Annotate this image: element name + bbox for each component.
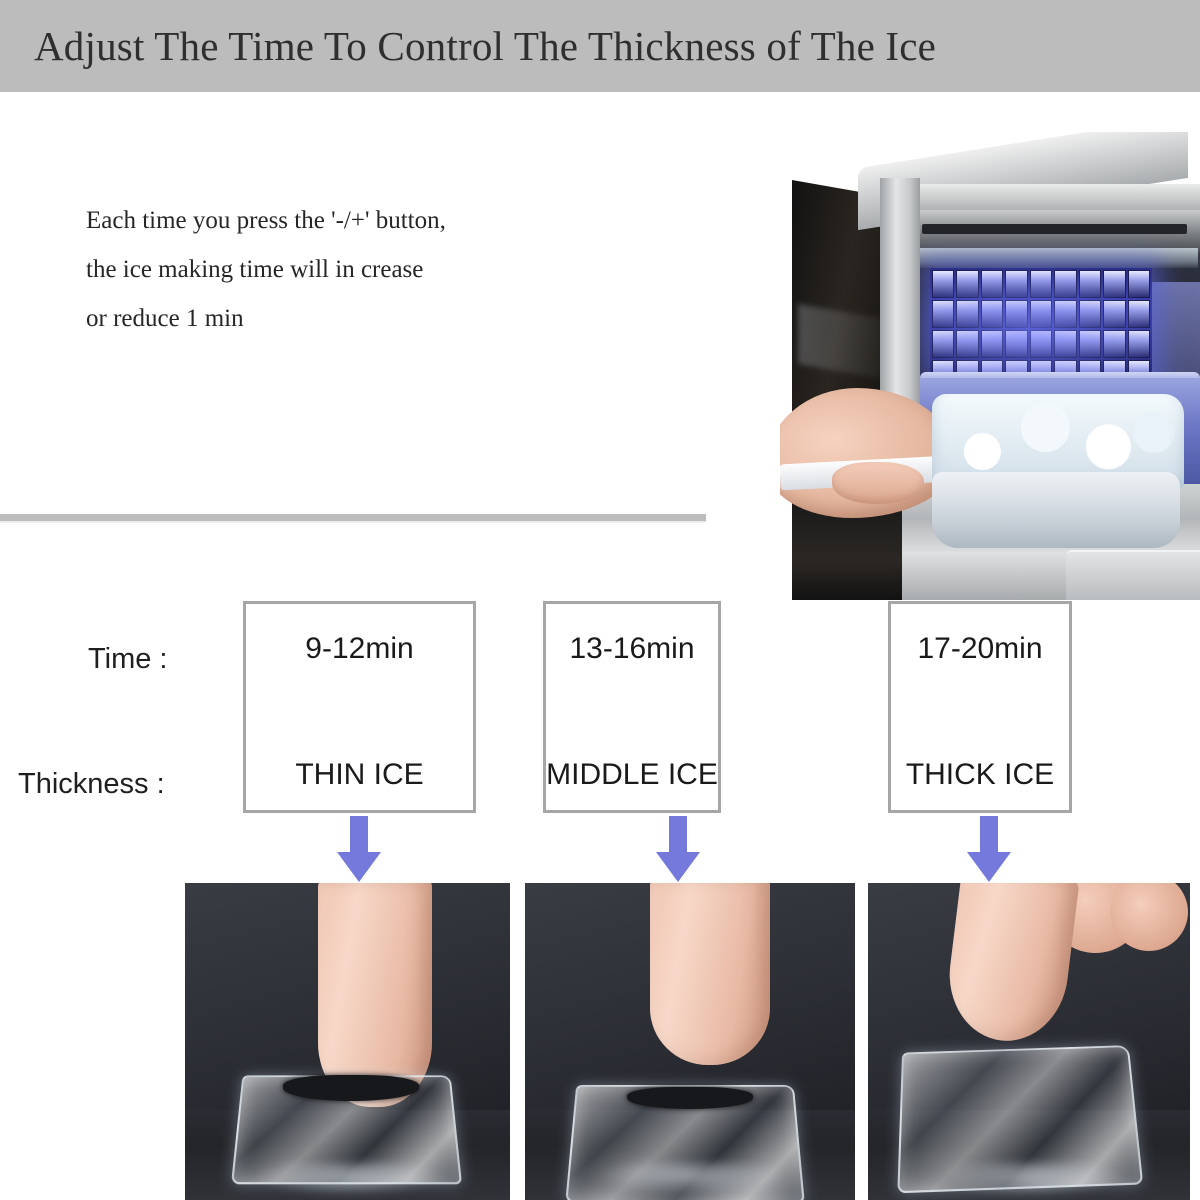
thickness-value-3: THICK ICE <box>891 758 1069 792</box>
ice-cube-hole-middle <box>627 1087 752 1109</box>
ice-photo-middle <box>525 883 855 1200</box>
down-arrow-icon-1 <box>337 816 381 880</box>
intro-line-2: the ice making time will in crease <box>86 245 606 294</box>
finger-thick <box>942 883 1080 1048</box>
time-value-3: 17-20min <box>891 632 1069 666</box>
intro-paragraph: Each time you press the '-/+' button, th… <box>86 196 606 343</box>
column-box-1: 9-12min THIN ICE <box>243 601 476 813</box>
row-label-thickness: Thickness : <box>18 768 165 801</box>
time-value-2: 13-16min <box>546 632 718 666</box>
page-title: Adjust The Time To Control The Thickness… <box>34 22 936 70</box>
thumb <box>832 462 924 504</box>
down-arrow-icon-2 <box>656 816 700 880</box>
control-panel[interactable]: 71 0° <box>1066 550 1200 600</box>
interior-lintel-slot <box>922 224 1187 234</box>
finger-middle <box>650 883 770 1065</box>
section-divider-shadow <box>0 521 706 523</box>
ice-machine-photo: 71 0° <box>780 132 1200 600</box>
column-box-3: 17-20min THICK ICE <box>888 601 1072 813</box>
row-label-time: Time : <box>88 643 167 676</box>
down-arrow-icon-3 <box>967 816 1011 880</box>
intro-line-1: Each time you press the '-/+' button, <box>86 196 606 245</box>
intro-line-3: or reduce 1 min <box>86 294 606 343</box>
ice-scoop <box>932 472 1180 548</box>
ice-photo-thin <box>185 883 510 1200</box>
time-value-1: 9-12min <box>246 632 473 666</box>
thickness-value-2: MIDDLE ICE <box>546 758 718 792</box>
ice-photo-thick <box>868 883 1190 1200</box>
ice-cube-hole-thin <box>283 1075 420 1101</box>
frost-band <box>920 248 1198 268</box>
column-box-2: 13-16min MIDDLE ICE <box>543 601 721 813</box>
section-divider <box>0 514 706 521</box>
thickness-value-1: THIN ICE <box>246 758 473 792</box>
finger-thin <box>318 883 432 1107</box>
